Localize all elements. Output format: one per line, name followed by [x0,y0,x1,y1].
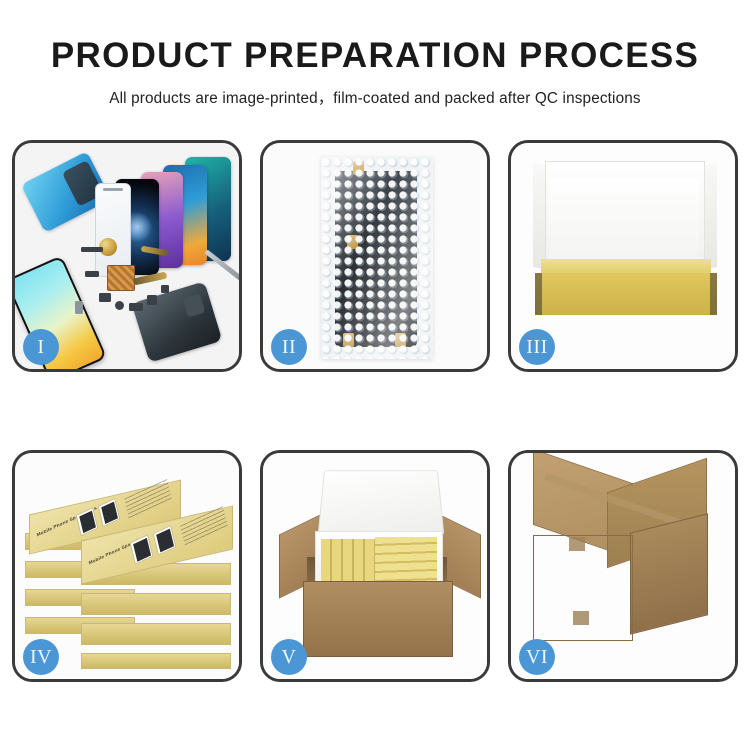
step-badge-1: I [23,329,59,365]
tempered-glass-icon [95,183,131,277]
bubble-wrap-bag-icon [321,157,433,359]
foam-sheet-icon [549,179,699,265]
page-subtitle: All products are image-printed，film-coat… [0,86,750,108]
carton-side-icon [630,513,708,634]
shield-plate-icon [107,265,135,291]
step-panel-2[interactable]: II [260,140,490,372]
step-badge-2: II [271,329,307,365]
process-steps-grid: I II [12,140,738,682]
step-panel-5[interactable]: V [260,450,490,682]
step-panel-3[interactable]: III [508,140,738,372]
box-stack: Mobile Phone Spare Parts Mobile Phone Sp… [23,471,235,667]
styrofoam-lid-icon [318,470,445,535]
step-badge-6: VI [519,639,555,675]
step-badge-3: III [519,329,555,365]
step-badge-5: V [271,639,307,675]
kraft-box-icon [535,273,717,315]
phone-lineup [107,155,239,275]
infographic-sheet: PRODUCT PREPARATION PROCESS All products… [0,0,750,750]
header: PRODUCT PREPARATION PROCESS All products… [0,0,750,108]
carton-front-icon [303,581,453,657]
step-badge-4: IV [23,639,59,675]
step-panel-4[interactable]: Mobile Phone Spare Parts Mobile Phone Sp… [12,450,242,682]
yellow-boxes-icon [375,537,437,583]
page-title: PRODUCT PREPARATION PROCESS [0,38,750,75]
step-panel-1[interactable]: I [12,140,242,372]
step-panel-6[interactable]: VI [508,450,738,682]
